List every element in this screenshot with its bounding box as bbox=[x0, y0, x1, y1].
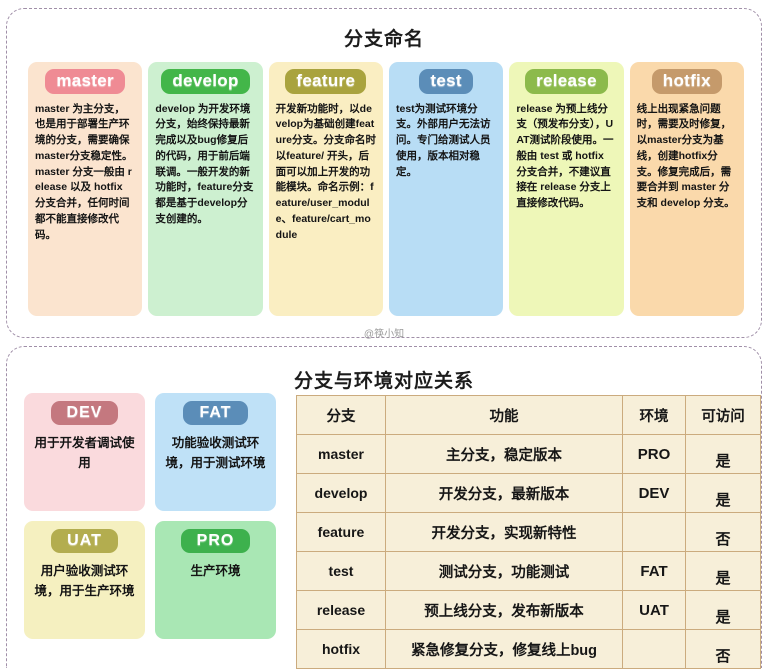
cell-environment: PRO bbox=[623, 435, 686, 474]
branch-badge-master: master bbox=[45, 69, 125, 94]
branch-description-release: release 为预上线分支（预发布分支），UAT测试阶段使用。一般由 test… bbox=[516, 102, 616, 212]
watermark-text: @筷小知 bbox=[0, 325, 768, 340]
environment-card-uat: UAT用户验收测试环境，用于生产环境 bbox=[24, 521, 145, 639]
environment-badge-fat: FAT bbox=[183, 401, 247, 425]
table-row: feature开发分支，实现新特性否 bbox=[297, 513, 761, 552]
cell-function: 开发分支，最新版本 bbox=[386, 474, 623, 513]
branch-card-master: mastermaster 为主分支，也是用于部署生产环境的分支，需要确保mast… bbox=[28, 62, 142, 316]
branch-badge-develop: develop bbox=[161, 69, 249, 94]
cell-branch: hotfix bbox=[297, 630, 386, 669]
cell-accessible: 是 bbox=[686, 552, 761, 591]
table-header: 分支 功能 环境 可访问 bbox=[297, 396, 761, 435]
cell-function: 测试分支，功能测试 bbox=[386, 552, 623, 591]
branch-description-feature: 开发新功能时，以develop为基础创建feature分支。分支命名时以feat… bbox=[276, 102, 376, 244]
branch-description-hotfix: 线上出现紧急问题时，需要及时修复，以master分支为基线，创建hotfix分支… bbox=[637, 102, 737, 212]
accessible-value: 是 bbox=[686, 567, 760, 588]
cell-function: 紧急修复分支，修复线上bug bbox=[386, 630, 623, 669]
environment-description-dev: 用于开发者调试使用 bbox=[30, 434, 139, 473]
page-title-env-mapping: 分支与环境对应关系 bbox=[0, 366, 768, 393]
cell-accessible: 是 bbox=[686, 474, 761, 513]
cell-accessible: 否 bbox=[686, 630, 761, 669]
cell-branch: test bbox=[297, 552, 386, 591]
branch-description-master: master 为主分支，也是用于部署生产环境的分支，需要确保master分支稳定… bbox=[35, 102, 135, 244]
accessible-value: 否 bbox=[686, 645, 760, 666]
cell-branch: feature bbox=[297, 513, 386, 552]
branch-card-release: releaserelease 为预上线分支（预发布分支），UAT测试阶段使用。一… bbox=[509, 62, 623, 316]
cell-branch: master bbox=[297, 435, 386, 474]
branch-badge-release: release bbox=[525, 69, 608, 94]
column-header-branch: 分支 bbox=[297, 396, 386, 435]
cell-accessible: 否 bbox=[686, 513, 761, 552]
branch-badge-hotfix: hotfix bbox=[652, 69, 722, 94]
accessible-value: 否 bbox=[686, 528, 760, 549]
environment-description-fat: 功能验收测试环境，用于测试环境 bbox=[161, 434, 270, 473]
cell-branch: release bbox=[297, 591, 386, 630]
branch-badge-test: test bbox=[419, 69, 472, 94]
branch-card-list: mastermaster 为主分支，也是用于部署生产环境的分支，需要确保mast… bbox=[28, 62, 744, 316]
table-row: test测试分支，功能测试FAT是 bbox=[297, 552, 761, 591]
environment-card-grid: DEV用于开发者调试使用FAT功能验收测试环境，用于测试环境UAT用户验收测试环… bbox=[24, 393, 276, 639]
table-row: develop开发分支，最新版本DEV是 bbox=[297, 474, 761, 513]
table-row: master主分支，稳定版本PRO是 bbox=[297, 435, 761, 474]
branch-card-hotfix: hotfix线上出现紧急问题时，需要及时修复，以master分支为基线，创建ho… bbox=[630, 62, 744, 316]
cell-function: 预上线分支，发布新版本 bbox=[386, 591, 623, 630]
cell-function: 开发分支，实现新特性 bbox=[386, 513, 623, 552]
accessible-value: 是 bbox=[686, 450, 760, 471]
environment-card-fat: FAT功能验收测试环境，用于测试环境 bbox=[155, 393, 276, 511]
branch-card-feature: feature开发新功能时，以develop为基础创建feature分支。分支命… bbox=[269, 62, 383, 316]
environment-badge-pro: PRO bbox=[181, 529, 251, 553]
branch-card-test: testtest为测试环境分支。外部用户无法访问。专门给测试人员使用，版本相对稳… bbox=[389, 62, 503, 316]
branch-badge-feature: feature bbox=[285, 69, 366, 94]
column-header-environment: 环境 bbox=[623, 396, 686, 435]
cell-environment bbox=[623, 513, 686, 552]
cell-environment: UAT bbox=[623, 591, 686, 630]
cell-environment: DEV bbox=[623, 474, 686, 513]
table-header-row: 分支 功能 环境 可访问 bbox=[297, 396, 761, 435]
cell-accessible: 是 bbox=[686, 591, 761, 630]
accessible-value: 是 bbox=[686, 489, 760, 510]
cell-accessible: 是 bbox=[686, 435, 761, 474]
accessible-value: 是 bbox=[686, 606, 760, 627]
cell-function: 主分支，稳定版本 bbox=[386, 435, 623, 474]
table-row: hotfix紧急修复分支，修复线上bug否 bbox=[297, 630, 761, 669]
branch-description-develop: develop 为开发环境分支，始终保持最新完成以及bug修复后的代码，用于前后… bbox=[155, 102, 255, 228]
page-title-branch-naming: 分支命名 bbox=[0, 24, 768, 51]
cell-environment: FAT bbox=[623, 552, 686, 591]
table-body: master主分支，稳定版本PRO是develop开发分支，最新版本DEV是fe… bbox=[297, 435, 761, 669]
column-header-accessible: 可访问 bbox=[686, 396, 761, 435]
cell-environment bbox=[623, 630, 686, 669]
environment-card-dev: DEV用于开发者调试使用 bbox=[24, 393, 145, 511]
branch-description-test: test为测试环境分支。外部用户无法访问。专门给测试人员使用，版本相对稳定。 bbox=[396, 102, 496, 181]
environment-description-pro: 生产环境 bbox=[161, 562, 270, 581]
branch-card-develop: developdevelop 为开发环境分支，始终保持最新完成以及bug修复后的… bbox=[148, 62, 262, 316]
column-header-function: 功能 bbox=[386, 396, 623, 435]
environment-description-uat: 用户验收测试环境，用于生产环境 bbox=[30, 562, 139, 601]
environment-badge-dev: DEV bbox=[51, 401, 119, 425]
cell-branch: develop bbox=[297, 474, 386, 513]
environment-badge-uat: UAT bbox=[51, 529, 118, 553]
branch-environment-table: 分支 功能 环境 可访问 master主分支，稳定版本PRO是develop开发… bbox=[296, 395, 761, 669]
table-row: release预上线分支，发布新版本UAT是 bbox=[297, 591, 761, 630]
environment-card-pro: PRO生产环境 bbox=[155, 521, 276, 639]
